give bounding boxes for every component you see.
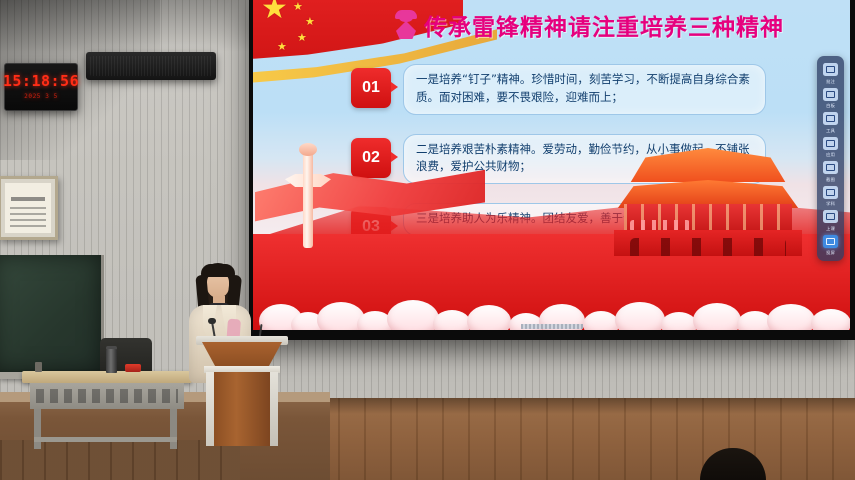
speaker-grille [90,56,212,76]
flag-star-large: ★ [261,0,288,24]
whiteboard-icon [823,88,838,101]
flag-star-3: ★ [297,33,307,44]
toolbar-item-whiteboard[interactable]: 白板 [818,86,843,109]
pen-annotate-icon [823,63,838,76]
small-cup [35,362,42,372]
ceiling-speaker-bar [86,52,216,80]
toolbar-label: 上课 [826,225,835,231]
cloud [583,311,619,330]
toolbar-label: 批注 [826,78,835,84]
poster-inner [5,183,51,233]
led-display-screen[interactable]: ★ ★ ★ ★ ★ 传承雷锋精神请注重培养三种精神 01 [249,0,855,340]
huabiao-shaft [303,152,313,248]
podium-body [214,372,270,446]
toolbar-label: 截图 [826,176,835,182]
toolbar-item-cast[interactable]: 投屏 [818,233,843,256]
screen-bottom-watermark [521,324,583,329]
lei-feng-figure-icon [393,10,419,40]
red-desk-item [125,364,141,372]
wooden-podium [196,336,288,446]
lei-feng-head [399,11,413,22]
apps-grid-icon [823,137,838,150]
subjects-icon [823,186,838,199]
bullet-item: 01 一是培养“钉子”精神。珍惜时间，刻苦学习，不断提高自身综合素质。面对困难，… [351,64,766,115]
clock-date: 2025 3 5 [24,94,58,100]
tiananmen-gate-icon [610,142,806,258]
flag-star-4: ★ [277,42,287,53]
slide-title-group: 传承雷锋精神请注重培养三种精神 [393,6,784,44]
toolbar-label: 工具 [826,127,835,133]
flag-star-2: ★ [305,17,315,28]
toolbar-item-tools[interactable]: 工具 [818,110,843,133]
cloud [693,303,741,330]
cloud [767,304,815,330]
desk-vents [36,389,178,403]
bullet-arrow-icon [391,152,399,162]
thermos-bottle [106,349,117,373]
poster-title-bar [11,197,45,201]
tiananmen-gate-arches [630,238,786,256]
toolbar-label: 应用 [826,151,835,157]
digital-led-clock: 15:18:56 2025 3 5 [4,63,78,111]
cloud [615,302,665,330]
microphone [208,318,216,324]
slide-canvas[interactable]: ★ ★ ★ ★ ★ 传承雷锋精神请注重培养三种精神 01 [253,0,850,330]
cloud [433,310,471,330]
huabiao-top [299,143,317,156]
toolbar-item-screenshot[interactable]: 截图 [818,159,843,182]
toolbar-item-apps[interactable]: 应用 [818,135,843,158]
podium-slope [202,342,282,367]
slide-title: 传承雷锋精神请注重培养三种精神 [424,8,784,42]
green-chalkboard [0,255,104,375]
poster-text-lines [10,207,46,228]
toolbar-label: 白板 [826,102,835,108]
cloud [387,300,439,330]
clock-time: 15:18:56 [3,74,79,89]
cloud [467,305,511,330]
start-class-icon [823,210,838,223]
screenshot-icon [823,161,838,174]
bullet-number-badge: 01 [351,68,391,108]
desk-leg-left [34,409,41,449]
presenter-hair-fringe [201,264,235,277]
lei-feng-body [396,21,416,39]
screenshot-root: 15:18:56 2025 3 5 ★ ★ ★ ★ ★ 传承雷锋精神请注 [0,0,855,480]
auspicious-clouds-icon [253,274,850,330]
presentation-toolbar[interactable]: 批注 白板 工具 应用 截图 [817,56,844,261]
bullet-arrow-icon [391,82,399,92]
cast-screen-icon [823,235,838,248]
desk-cross-bar [34,437,177,442]
desk-leg-right [170,409,177,449]
toolbar-item-annotate[interactable]: 批注 [818,61,843,84]
framed-wall-poster [0,176,58,240]
teacher-desk [22,371,192,449]
tiananmen-upper-roof [616,148,800,182]
toolbar-item-subjects[interactable]: 学科 [818,184,843,207]
bullet-text: 一是培养“钉子”精神。珍惜时间，刻苦学习，不断提高自身综合素质。面对困难，要不畏… [403,64,766,115]
toolbar-label: 投屏 [826,249,835,255]
toolbox-icon [823,112,838,125]
bullet-number-badge: 02 [351,138,391,178]
cloud [811,309,850,330]
huabiao-column-icon [297,144,319,248]
flag-star-1: ★ [293,2,303,13]
toolbar-label: 学科 [826,200,835,206]
toolbar-item-start-class[interactable]: 上课 [818,208,843,231]
cloud [661,312,697,330]
